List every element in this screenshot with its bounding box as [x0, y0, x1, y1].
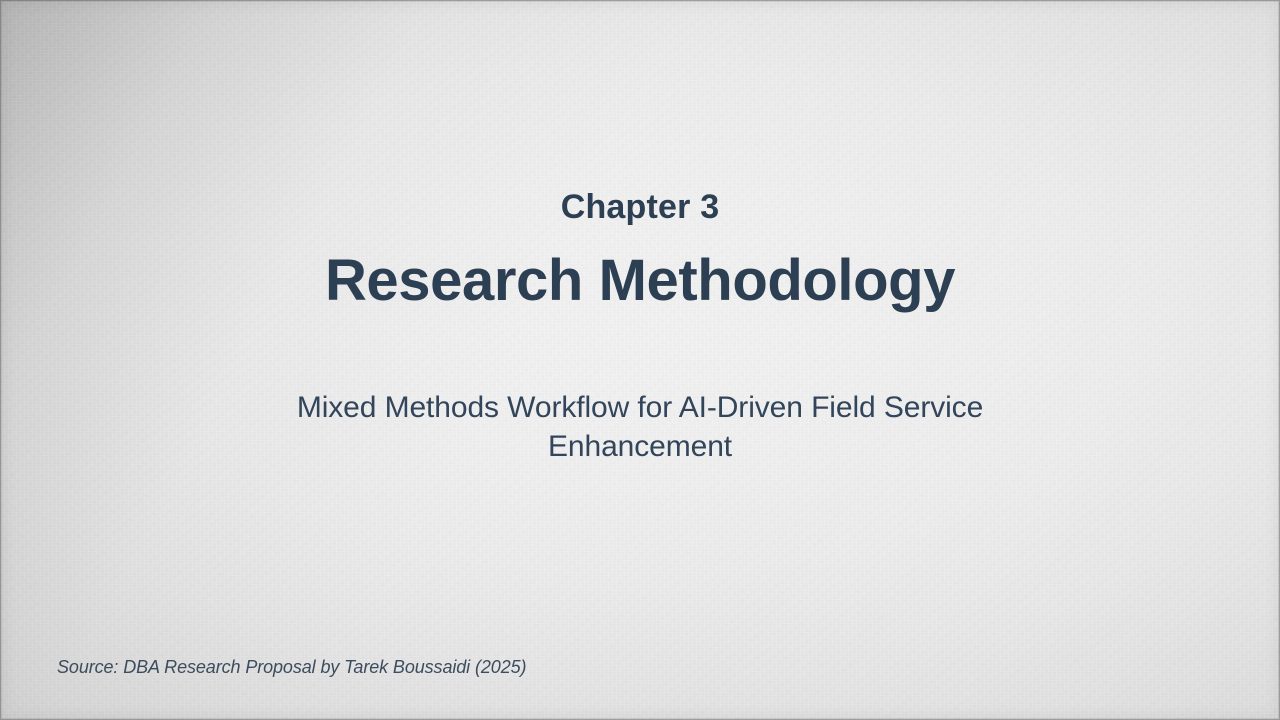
title-block: Chapter 3 Research Methodology: [0, 190, 1280, 310]
chapter-eyebrow: Chapter 3: [0, 190, 1280, 224]
slide-content: Chapter 3 Research Methodology Mixed Met…: [0, 0, 1280, 720]
page-title: Research Methodology: [0, 252, 1280, 310]
source-attribution: Source: DBA Research Proposal by Tarek B…: [57, 657, 526, 679]
slide-subtitle: Mixed Methods Workflow for AI-Driven Fie…: [240, 388, 1040, 466]
title-slide: Chapter 3 Research Methodology Mixed Met…: [0, 0, 1280, 720]
